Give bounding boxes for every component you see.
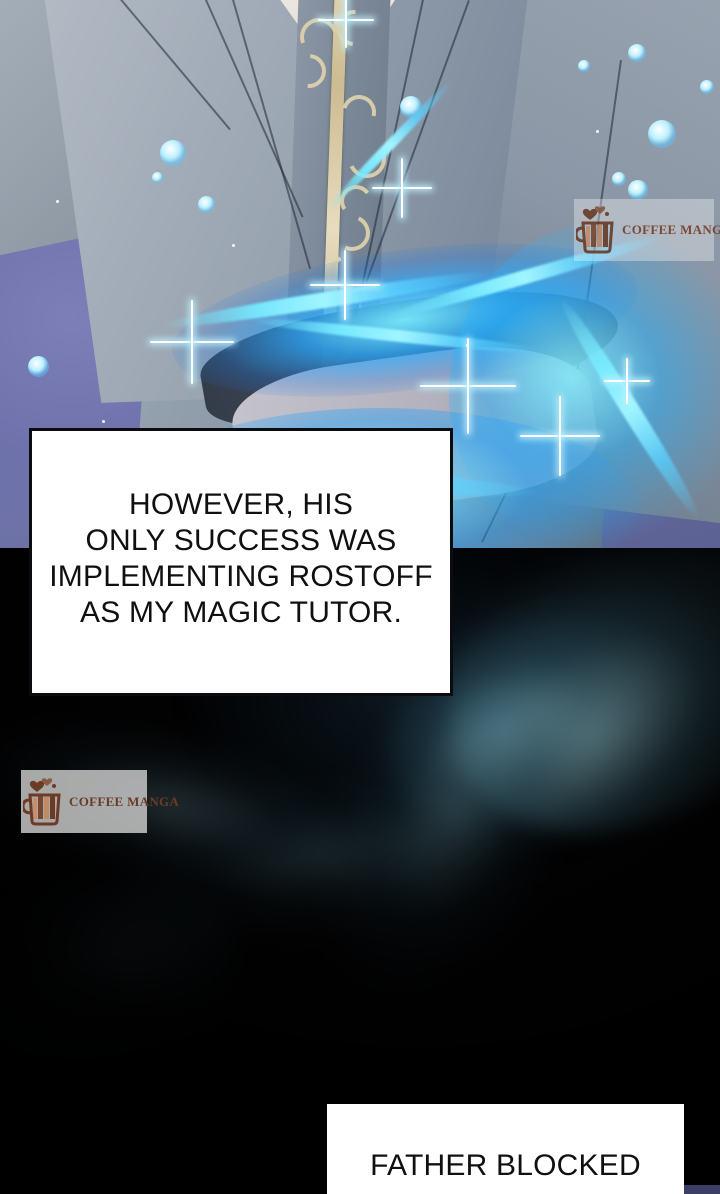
light-orb	[152, 172, 163, 183]
light-dot	[232, 244, 235, 247]
coffee-cup-books-hearts-icon	[23, 776, 69, 828]
light-dot	[102, 420, 105, 423]
dialogue-box-1: HOWEVER, HIS ONLY SUCCESS WAS IMPLEMENTI…	[29, 428, 453, 696]
light-orb	[28, 356, 49, 377]
light-orb	[628, 180, 648, 200]
dialogue-text: HOWEVER, HIS ONLY SUCCESS WAS IMPLEMENTI…	[49, 487, 432, 631]
coffee-cup-books-hearts-icon	[576, 204, 622, 256]
light-orb	[578, 60, 590, 72]
light-orb	[400, 96, 422, 118]
bottom-accent-bar	[684, 1185, 720, 1194]
dialogue-text: FATHER BLOCKED MOST OF ZEON'S	[327, 1104, 684, 1194]
light-orb	[198, 196, 215, 213]
light-orb	[160, 140, 186, 166]
watermark-label: COFFEE MANGA	[69, 794, 179, 810]
light-dot	[56, 200, 59, 203]
comic-page: HOWEVER, HIS ONLY SUCCESS WAS IMPLEMENTI…	[0, 0, 720, 1194]
light-dot	[466, 344, 469, 347]
watermark-top: COFFEE MANGA	[574, 199, 714, 261]
dialogue-box-2: FATHER BLOCKED MOST OF ZEON'S	[327, 1104, 684, 1194]
light-orb	[612, 172, 626, 186]
light-orb	[700, 80, 714, 94]
light-orb	[648, 120, 676, 148]
light-dot	[596, 130, 599, 133]
watermark-bottom: COFFEE MANGA	[21, 770, 147, 833]
light-orb	[628, 44, 646, 62]
watermark-label: COFFEE MANGA	[622, 222, 720, 238]
